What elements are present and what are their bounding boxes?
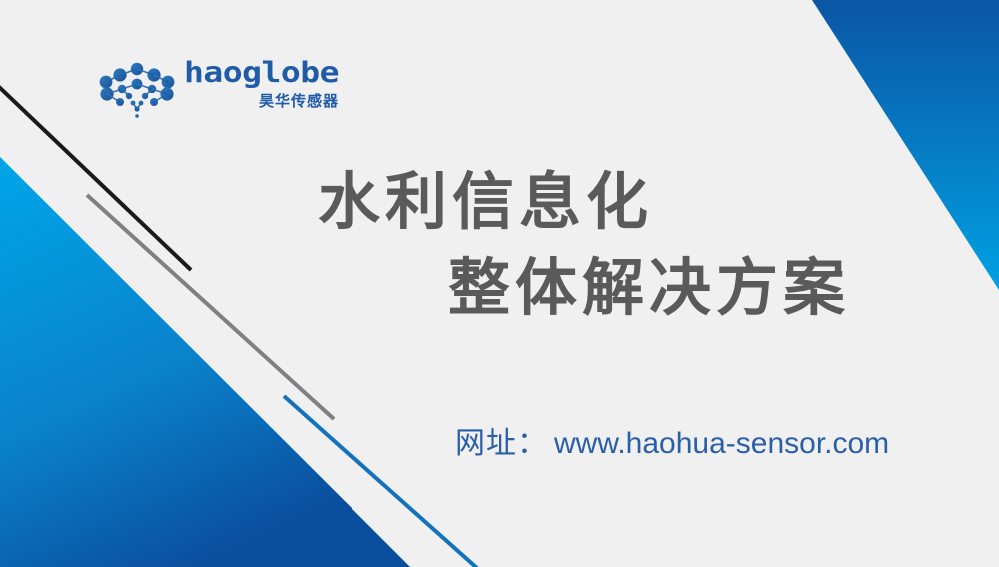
slide-title: 水利信息化 整体解决方案 — [0, 160, 999, 332]
title-line-1: 水利信息化 — [0, 160, 999, 246]
company-logo: haoglobe 昊华传感器 — [98, 58, 339, 120]
url-label: 网址： — [455, 418, 548, 462]
blue-diagonal-line — [284, 396, 478, 567]
haoglobe-network-mark-icon — [98, 62, 176, 120]
website-url: 网址： www.haohua-sensor.com — [455, 418, 889, 462]
url-value[interactable]: www.haohua-sensor.com — [554, 427, 889, 461]
presentation-slide: haoglobe 昊华传感器 水利信息化 整体解决方案 网址： www.haoh… — [0, 0, 999, 567]
title-line-2: 整体解决方案 — [0, 246, 999, 332]
logo-wordmark: haoglobe — [184, 58, 339, 87]
logo-text-block: haoglobe 昊华传感器 — [184, 58, 339, 110]
logo-subtitle: 昊华传感器 — [259, 93, 339, 110]
